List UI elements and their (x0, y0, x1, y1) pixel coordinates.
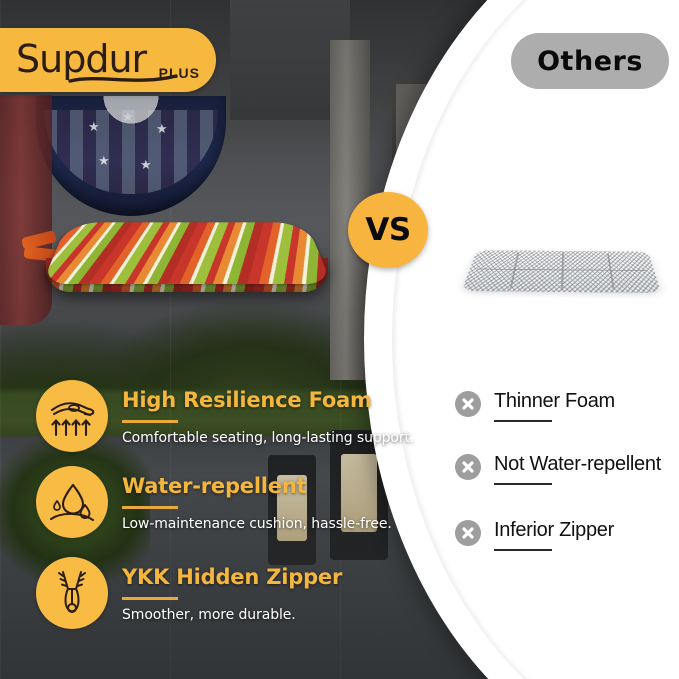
others-label: Others (537, 46, 643, 77)
feature-underline (122, 420, 178, 423)
brand-swoosh-icon (68, 73, 178, 85)
circle-x-icon (455, 454, 481, 480)
feature-text-block: High Resilience Foam Comfortable seating… (122, 380, 414, 448)
feature-text-block: YKK Hidden Zipper Smoother, more durable… (122, 557, 342, 625)
drawback-title: Inferior Zipper (494, 518, 614, 542)
feature-title: High Resilience Foam (122, 387, 414, 413)
circle-x-icon (455, 391, 481, 417)
zipper-icon (36, 557, 108, 629)
drawback-row-thinner-foam: Thinner Foam (455, 389, 615, 422)
feature-title: YKK Hidden Zipper (122, 564, 342, 590)
feature-title: Water-repellent (122, 473, 392, 499)
feature-subtitle: Smoother, more durable. (122, 606, 342, 625)
feature-underline (122, 597, 178, 600)
brand-logo-badge: Supdur PLUS (0, 28, 216, 92)
drawback-underline (494, 483, 552, 485)
feature-text-block: Water-repellent Low-maintenance cushion,… (122, 466, 392, 534)
water-droplet-icon (36, 466, 108, 538)
drawback-underline (494, 420, 552, 422)
product-cushion-theirs (455, 196, 670, 311)
drawback-underline (494, 549, 552, 551)
feature-subtitle: Comfortable seating, long-lasting suppor… (122, 429, 414, 448)
feature-row-high-resilience-foam: High Resilience Foam Comfortable seating… (36, 380, 414, 452)
drawback-text-block: Inferior Zipper (494, 518, 614, 551)
drawback-row-not-water-repellent: Not Water-repellent (455, 452, 661, 485)
brand-wordmark: Supdur PLUS (16, 34, 202, 86)
drawback-row-inferior-zipper: Inferior Zipper (455, 518, 614, 551)
vs-badge: VS (348, 192, 428, 268)
feature-underline (122, 506, 178, 509)
drawback-text-block: Not Water-repellent (494, 452, 661, 485)
feature-row-water-repellent: Water-repellent Low-maintenance cushion,… (36, 466, 392, 538)
drawback-title: Not Water-repellent (494, 452, 661, 476)
others-badge: Others (511, 33, 669, 89)
comparison-infographic: ★ ★ ★ ★ ★ Supdur PLUS (0, 0, 679, 679)
feature-row-ykk-hidden-zipper: YKK Hidden Zipper Smoother, more durable… (36, 557, 342, 629)
product-cushion-ours (22, 176, 342, 306)
feature-subtitle: Low-maintenance cushion, hassle-free. (122, 515, 392, 534)
circle-x-icon (455, 520, 481, 546)
drawback-title: Thinner Foam (494, 389, 615, 413)
cushion-top-surface (42, 222, 332, 284)
vs-label: VS (365, 212, 410, 248)
drawback-text-block: Thinner Foam (494, 389, 615, 422)
competitor-cushion-body (461, 250, 661, 293)
hand-pressing-foam-icon (36, 380, 108, 452)
